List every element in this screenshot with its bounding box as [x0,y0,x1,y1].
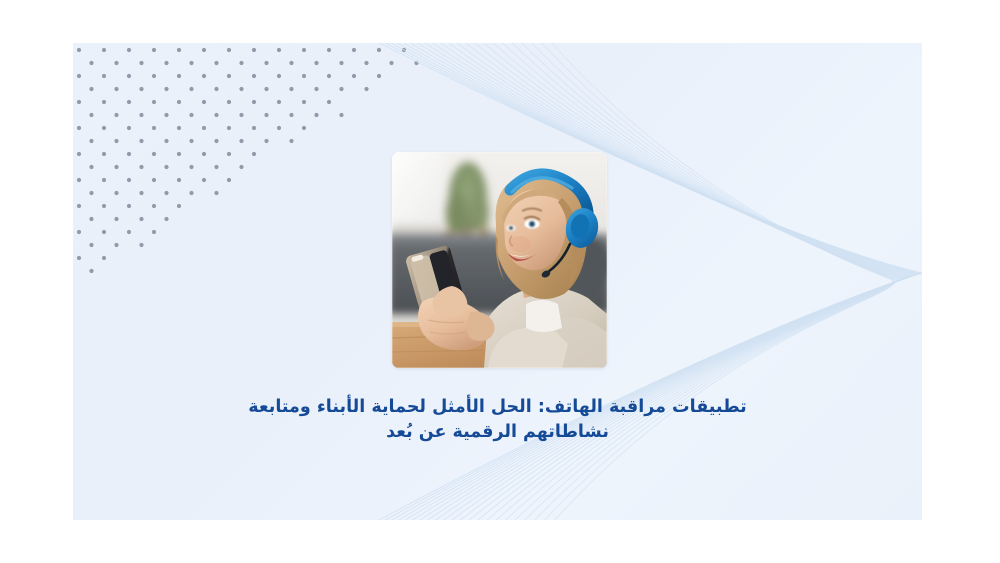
dot-grid-triangle-icon [73,43,433,273]
slide-canvas: تطبيقات مراقبة الهاتف: الحل الأمثل لحماي… [0,0,1000,563]
title-line-1: تطبيقات مراقبة الهاتف: الحل الأمثل لحماي… [73,395,922,420]
page-title: تطبيقات مراقبة الهاتف: الحل الأمثل لحماي… [73,395,922,445]
content-card: تطبيقات مراقبة الهاتف: الحل الأمثل لحماي… [73,43,922,520]
title-line-2: نشاطاتهم الرقمية عن بُعد [73,420,922,445]
hero-photo-illustration [392,152,607,368]
dot-grid-svg [73,43,433,273]
hero-photo [392,152,607,368]
